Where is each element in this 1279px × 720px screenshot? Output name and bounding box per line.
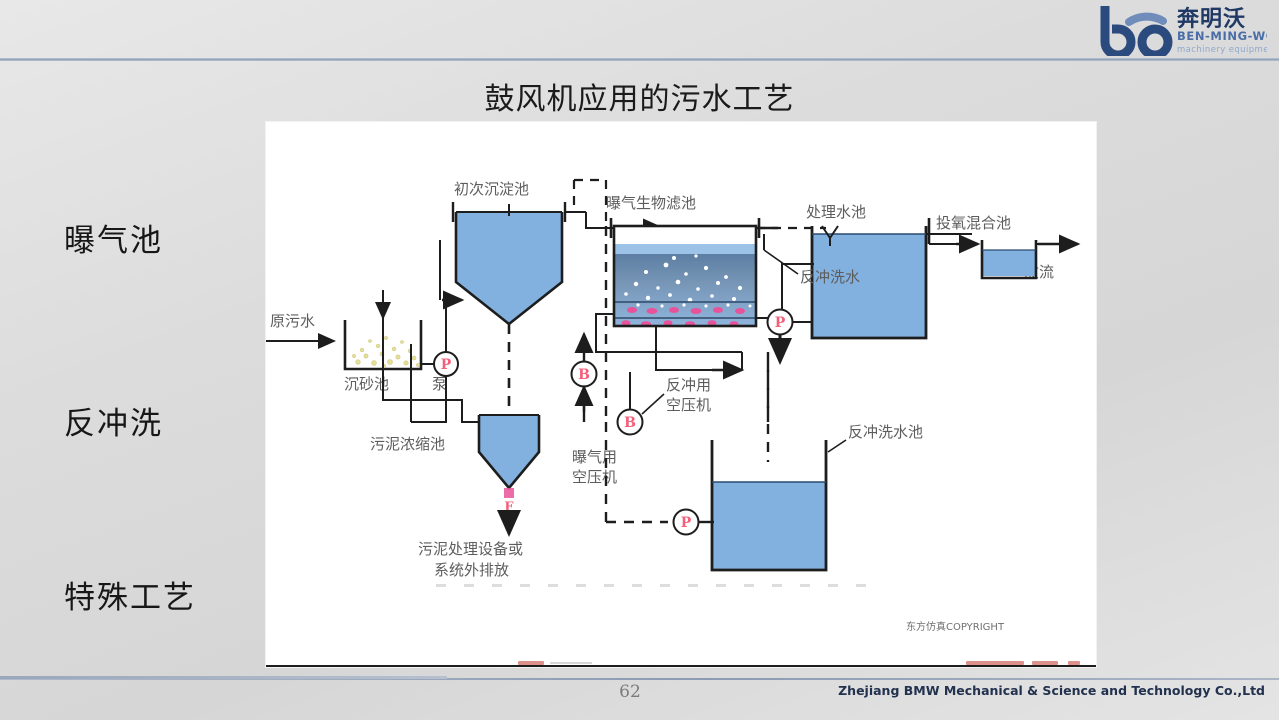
process-flow-diagram: 初次沉淀池 曝气生物滤池 处理水池 投氧混合池 放流 原污水 (266, 122, 1096, 667)
header-divider (0, 58, 1279, 61)
label-aerated-biofilter: 曝气生物滤池 (606, 194, 696, 212)
pipe-pump-riser (446, 300, 462, 352)
logo-name-en: BEN-MING-WO (1177, 29, 1267, 43)
oxygen-dosing-mixer-vessel (982, 240, 1036, 278)
backwash-water-pool-vessel (712, 440, 826, 570)
footer-divider-left (0, 676, 447, 679)
label-sludge-outlet-line2: 系统外排放 (434, 561, 509, 579)
sidebar-item-backwash[interactable]: 反冲洗 (64, 398, 163, 443)
pump-treated-symbol: P (775, 315, 786, 331)
label-sludge-thickener: 污泥浓缩池 (370, 435, 445, 453)
leader-backwash-pool (828, 440, 846, 452)
equipment-pump-backwash[interactable]: P (674, 510, 699, 535)
primary-settling-tank-vessel (453, 202, 565, 324)
sludge-thickener-vessel (479, 415, 539, 488)
label-primary-settling-tank: 初次沉淀池 (454, 180, 529, 198)
company-logo: 奔明沃 BEN-MING-WO machinery equipment (1099, 2, 1267, 56)
equipment-valve-sludge[interactable]: F (504, 488, 514, 515)
equipment-blower-backwash[interactable]: B (618, 410, 643, 435)
aerated-biofilter-vessel (611, 218, 759, 327)
grit-particles (352, 336, 419, 367)
logo-tagline: machinery equipment (1177, 45, 1267, 55)
label-backwash-water-pool: 反冲洗水池 (848, 423, 923, 441)
sidebar-item-aeration-tank[interactable]: 曝气池 (64, 215, 163, 260)
label-treated-water-pool: 处理水池 (806, 203, 866, 221)
pump-backwash-symbol: P (681, 515, 692, 531)
diagram-watermark: 东方仿真COPYRIGHT (906, 620, 1005, 633)
ghost-dotted-artifact (436, 584, 866, 587)
leader-backwash-compressor (642, 394, 664, 414)
page-title: 鼓风机应用的污水工艺 (0, 74, 1279, 118)
label-oxygen-dosing-mixer: 投氧混合池 (936, 214, 1011, 232)
pipe-biofilter-bottom-main (656, 326, 736, 370)
label-aeration-compressor-line1: 曝气用 (572, 448, 617, 466)
label-backwash-compressor-line2: 空压机 (666, 396, 711, 414)
label-aeration-compressor-line2: 空压机 (572, 468, 617, 486)
equipment-pump-treated[interactable]: P (768, 310, 793, 335)
label-raw-sewage: 原污水 (270, 312, 315, 330)
page-number: 62 (600, 682, 660, 702)
label-backwash-water: 反冲洗水 (800, 268, 860, 286)
slide-canvas: 奔明沃 BEN-MING-WO machinery equipment 鼓风机应… (0, 0, 1279, 720)
sidebar-item-special-process[interactable]: 特殊工艺 (64, 572, 196, 617)
ghost-artifact-left2 (550, 662, 592, 664)
panel-bottom-border (266, 665, 1096, 667)
equipment-blower-aeration[interactable]: B (572, 362, 597, 387)
company-name: Zhejiang BMW Mechanical & Science and Te… (838, 683, 1265, 698)
label-backwash-compressor-line1: 反冲用 (666, 376, 711, 394)
bo-monogram-icon (1105, 6, 1168, 55)
label-pump: 泵 (432, 375, 447, 393)
valve-sludge-symbol: F (504, 500, 514, 515)
pump-grit-symbol: P (441, 357, 452, 373)
blower-backwash-symbol: B (624, 415, 636, 431)
label-sludge-outlet-line1: 污泥处理设备或 (418, 540, 523, 558)
equipment-pump-grit[interactable]: P (434, 352, 458, 376)
blower-aeration-symbol: B (578, 367, 590, 383)
